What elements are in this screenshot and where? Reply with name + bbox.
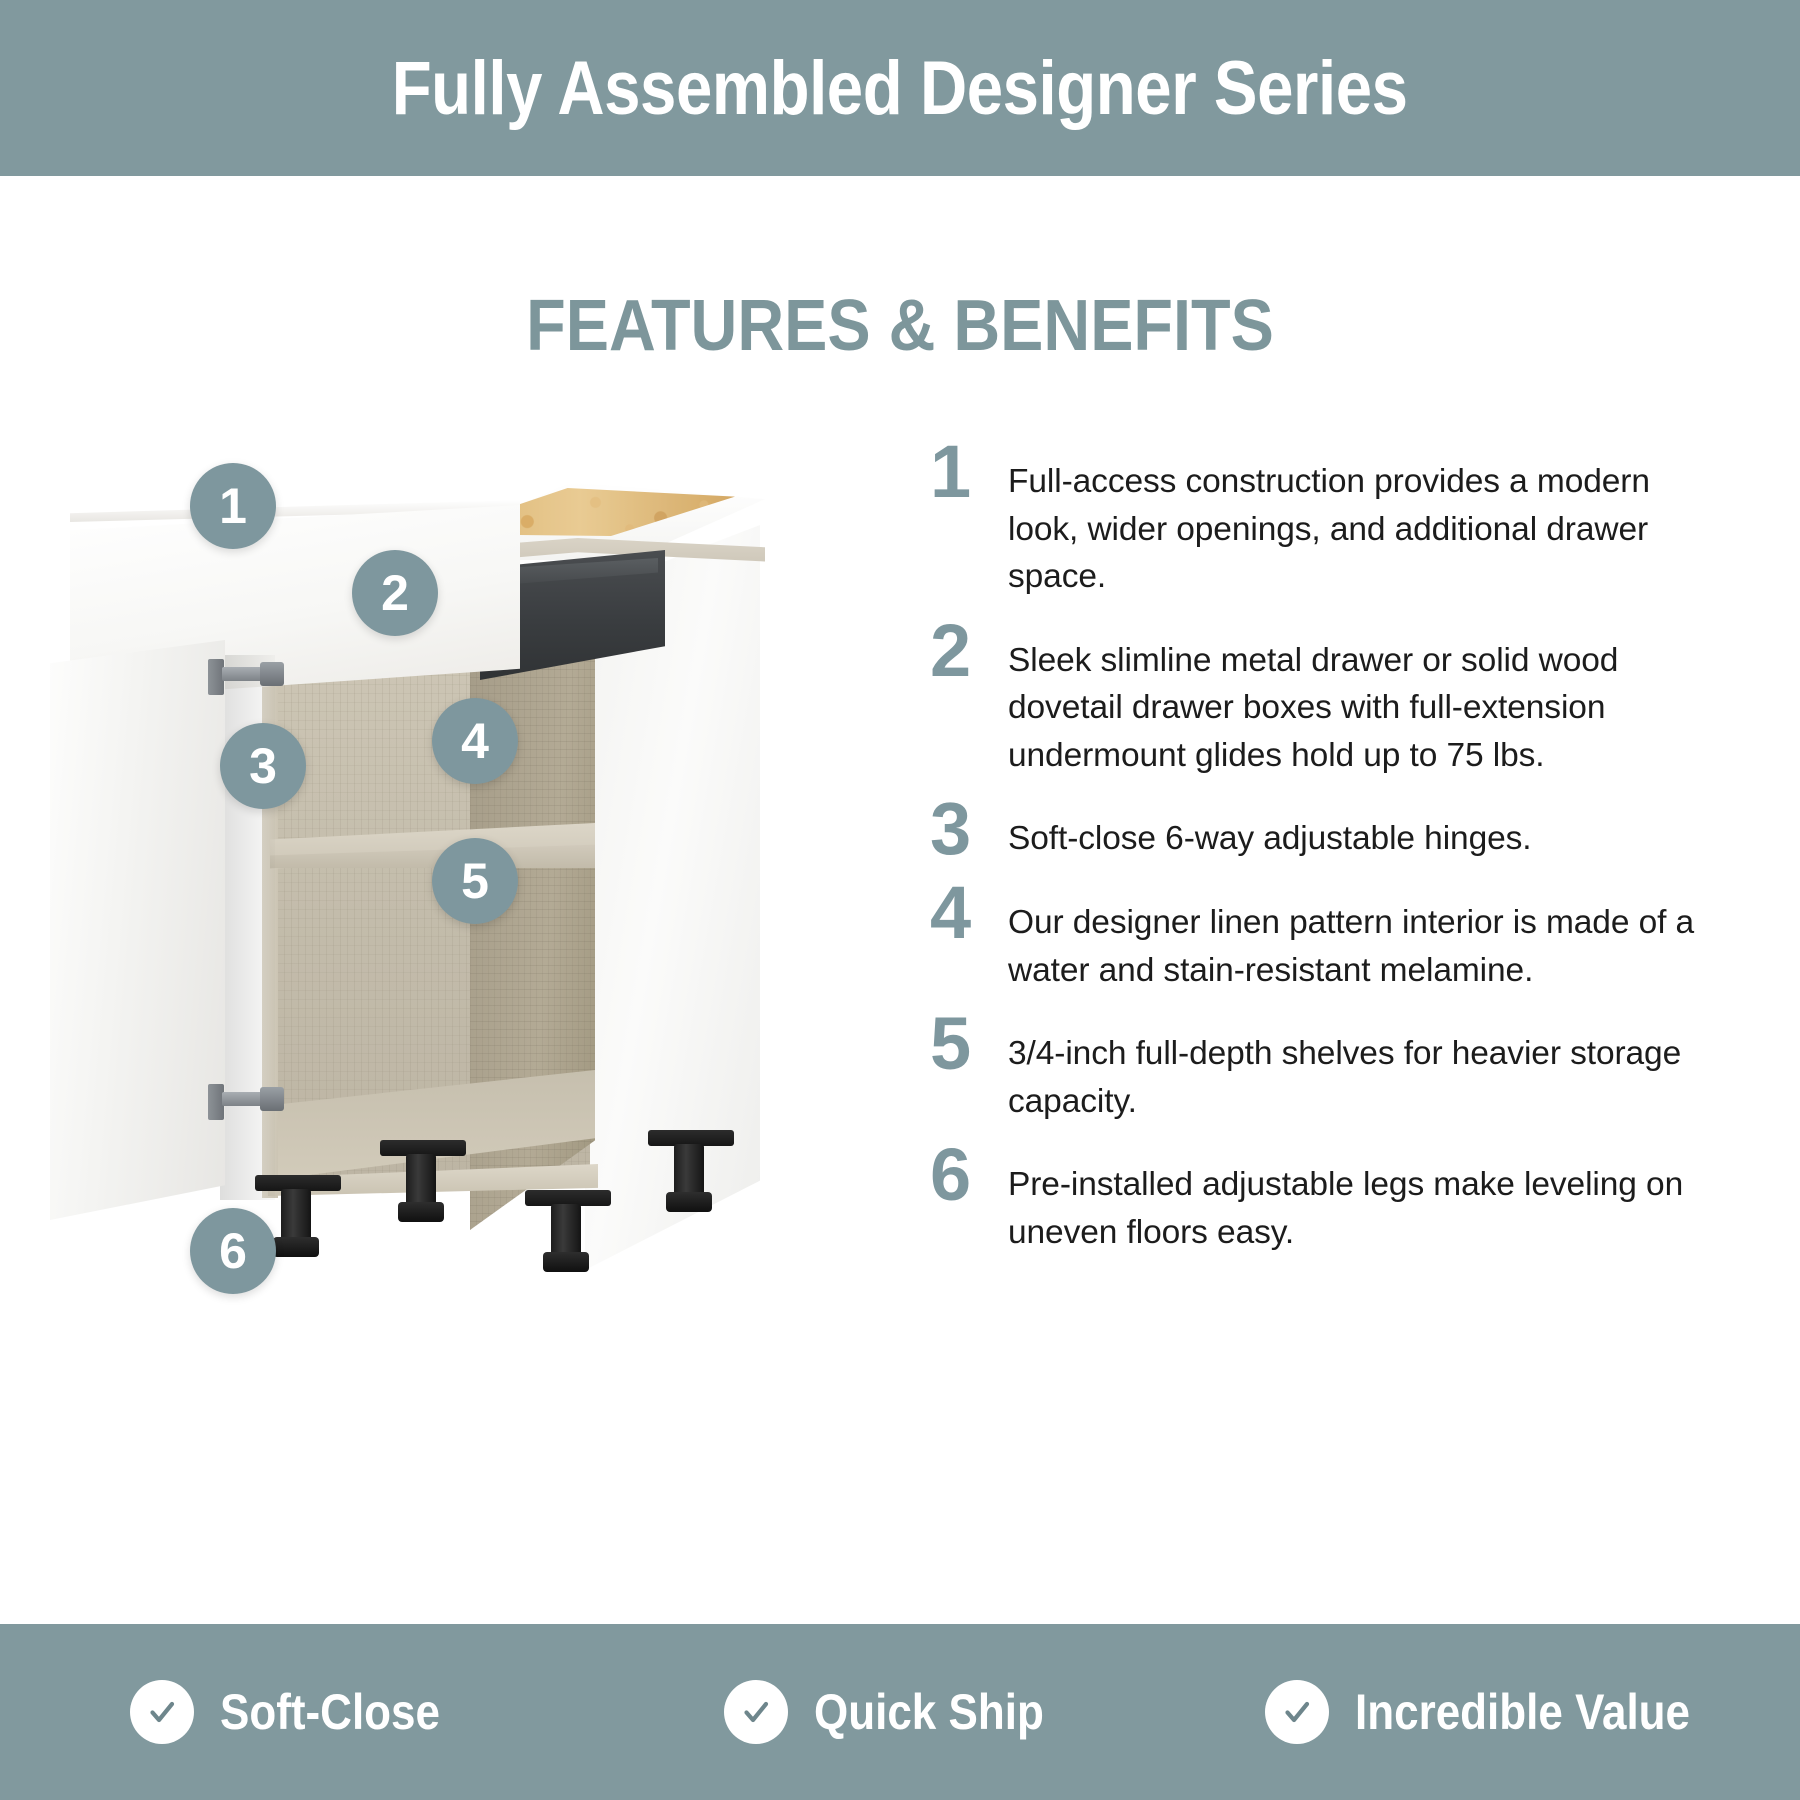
leg-post: [551, 1204, 581, 1258]
feature-description: Sleek slimline metal drawer or solid woo…: [1008, 619, 1720, 780]
main-content: 1 2 3 4 5 6 1 Full-access construction p…: [0, 420, 1800, 1600]
check-circle-icon: [724, 1680, 788, 1744]
soft-close-hinge-icon: [208, 1080, 286, 1120]
callout-marker-3: 3: [220, 723, 306, 809]
callout-marker-5: 5: [432, 838, 518, 924]
leg-post: [674, 1144, 704, 1198]
feature-number: 6: [930, 1143, 1008, 1206]
leg-foot: [543, 1252, 589, 1272]
footer-bar: Soft-Close Quick Ship Incredible Value: [0, 1624, 1800, 1800]
feature-description: Soft-close 6-way adjustable hinges.: [1008, 797, 1720, 863]
footer-badge-label: Incredible Value: [1355, 1683, 1690, 1741]
cabinet-door: [50, 640, 225, 1220]
footer-badge-soft-close: Soft-Close: [0, 1680, 600, 1744]
leg-post: [406, 1154, 436, 1208]
hinge-cup: [260, 1087, 284, 1111]
feature-item: 1 Full-access construction provides a mo…: [930, 440, 1720, 601]
feature-description: Pre-installed adjustable legs make level…: [1008, 1143, 1720, 1256]
feature-item: 6 Pre-installed adjustable legs make lev…: [930, 1143, 1720, 1256]
leg-post: [281, 1189, 311, 1243]
product-illustration: 1 2 3 4 5 6: [40, 440, 820, 1300]
feature-description: 3/4-inch full-depth shelves for heavier …: [1008, 1012, 1720, 1125]
feature-item: 3 Soft-close 6-way adjustable hinges.: [930, 797, 1720, 863]
feature-item: 2 Sleek slimline metal drawer or solid w…: [930, 619, 1720, 780]
feature-number: 1: [930, 440, 1008, 503]
check-circle-icon: [130, 1680, 194, 1744]
feature-number: 4: [930, 881, 1008, 944]
soft-close-hinge-icon: [208, 655, 286, 695]
feature-number: 2: [930, 619, 1008, 682]
leg-foot: [273, 1237, 319, 1257]
callout-marker-2: 2: [352, 550, 438, 636]
callout-marker-4: 4: [432, 698, 518, 784]
callout-marker-1: 1: [190, 463, 276, 549]
check-circle-icon: [1265, 1680, 1329, 1744]
footer-badge-incredible-value: Incredible Value: [1200, 1680, 1800, 1744]
callout-marker-6: 6: [190, 1208, 276, 1294]
footer-badge-quick-ship: Quick Ship: [600, 1680, 1200, 1744]
page-title: Fully Assembled Designer Series: [392, 45, 1408, 132]
feature-item: 4 Our designer linen pattern interior is…: [930, 881, 1720, 994]
footer-badge-label: Soft-Close: [220, 1683, 440, 1741]
header-bar: Fully Assembled Designer Series: [0, 0, 1800, 176]
footer-badge-label: Quick Ship: [814, 1683, 1044, 1741]
feature-number: 5: [930, 1012, 1008, 1075]
feature-description: Our designer linen pattern interior is m…: [1008, 881, 1720, 994]
feature-list: 1 Full-access construction provides a mo…: [930, 440, 1720, 1274]
feature-item: 5 3/4-inch full-depth shelves for heavie…: [930, 1012, 1720, 1125]
leg-foot: [398, 1202, 444, 1222]
feature-description: Full-access construction provides a mode…: [1008, 440, 1720, 601]
hinge-cup: [260, 662, 284, 686]
leg-foot: [666, 1192, 712, 1212]
feature-number: 3: [930, 797, 1008, 860]
section-heading: FEATURES & BENEFITS: [90, 285, 1710, 367]
